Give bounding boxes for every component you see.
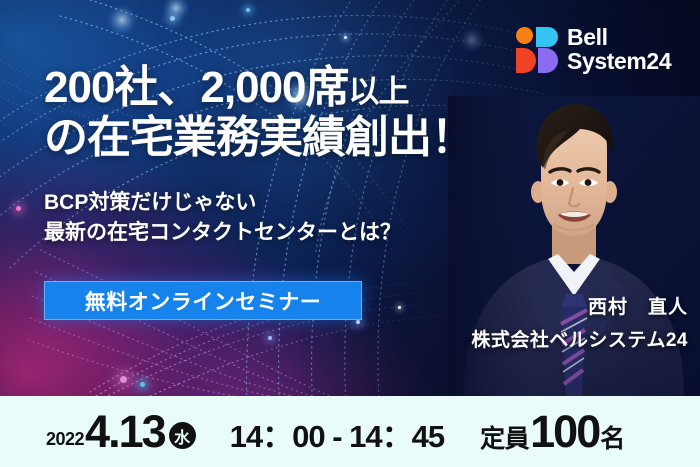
seminar-banner: Bell System24 200社、2,000席以上 の在宅業務実績創出！ B… — [0, 0, 700, 467]
subtitle-line-2: 最新の在宅コンタクトセンターとは？ — [44, 218, 401, 248]
event-year: 2022 — [46, 429, 84, 450]
logo-shape-orange-circle-icon — [516, 27, 533, 44]
page-title: 200社、2,000席以上 の在宅業務実績創出！ — [44, 66, 474, 160]
capacity-label: 定員 — [480, 419, 529, 455]
capacity-number: 100 — [530, 406, 599, 458]
event-info-bar: 2022 4.13 水 14：00 - 14：45 定員 100 名 — [0, 396, 700, 467]
logo-word-line2: System24 — [567, 50, 671, 74]
subtitle: BCP対策だけじゃない 最新の在宅コンタクトセンターとは？ — [44, 188, 401, 249]
free-online-seminar-badge[interactable]: 無料オンラインセミナー — [44, 281, 362, 320]
logo-shape-purple-d-icon — [538, 48, 558, 73]
headline-line-1: 200社、2,000席以上 — [44, 66, 474, 110]
logo-shape-cyan-d-icon — [536, 27, 558, 47]
subtitle-line-1: BCP対策だけじゃない — [44, 188, 401, 218]
bell-system24-logo: Bell System24 — [516, 26, 671, 74]
event-date: 4.13 — [85, 406, 165, 458]
event-day-of-week-badge: 水 — [169, 422, 196, 449]
speaker-organization: 株式会社ベルシステム24 — [471, 325, 688, 352]
bell-system24-logo-mark — [516, 27, 558, 73]
headline-line-1-suffix: 以上 — [349, 74, 409, 109]
event-time-range: 14：00 - 14：45 — [230, 411, 444, 456]
headline-line-2: の在宅業務実績創出！ — [44, 116, 474, 160]
headline-line-1-main: 200社、2,000席 — [44, 63, 349, 112]
logo-word-line1: Bell — [567, 26, 671, 50]
logo-wordmark: Bell System24 — [567, 26, 671, 74]
free-online-seminar-badge-label: 無料オンラインセミナー — [85, 286, 322, 316]
speaker-name: 西村 直人 — [588, 292, 688, 319]
capacity-unit: 名 — [600, 419, 625, 455]
logo-shape-red-d-icon — [516, 48, 536, 73]
